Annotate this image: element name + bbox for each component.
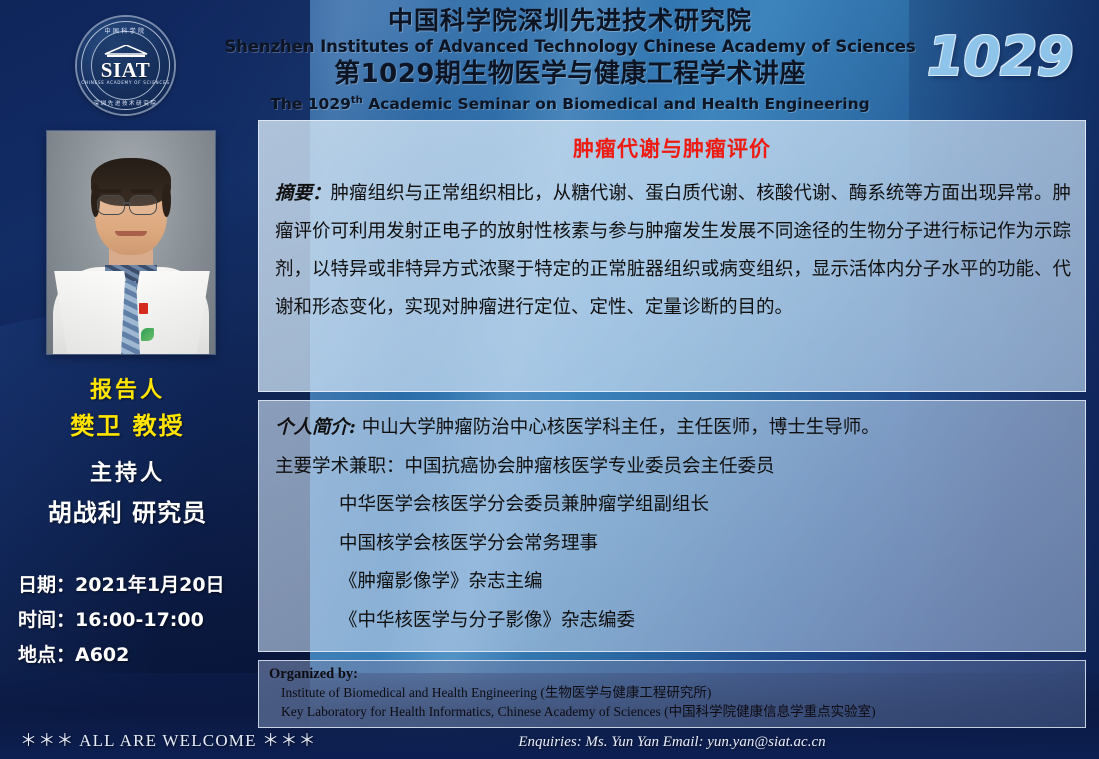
glasses-icon-right — [129, 195, 157, 215]
event-details: 日期：2021年1月20日 时间：16:00-17:00 地点：A602 — [18, 568, 248, 673]
portrait-mouth — [115, 231, 147, 236]
bio-affiliation-lead: 主要学术兼职：中国抗癌协会肿瘤核医学专业委员会主任委员 — [275, 448, 1071, 487]
seminar-en-ordinal: th — [351, 95, 363, 106]
event-date: 日期：2021年1月20日 — [18, 568, 248, 603]
host-name-label: 胡战利 研究员 — [0, 493, 255, 528]
glasses-bridge — [123, 202, 130, 204]
speaker-role-label: 报告人 — [0, 372, 255, 404]
organizer-title: Organized by: — [269, 666, 1085, 683]
abstract-lead-label: 摘要： — [275, 183, 331, 204]
portrait-brow-left — [99, 189, 121, 193]
organizer-panel: Organized by: Institute of Biomedical an… — [258, 660, 1086, 728]
logo-arc-top-label: 中国科学院 — [77, 26, 174, 35]
event-time: 时间：16:00-17:00 — [18, 603, 248, 638]
bio-summary-line: 个人简介: 中山大学肿瘤防治中心核医学科主任，主任医师，博士生导师。 — [275, 409, 1071, 448]
abstract-text: 摘要：肿瘤组织与正常组织相比，从糖代谢、蛋白质代谢、核酸代谢、酶系统等方面出现异… — [275, 175, 1071, 327]
biography-panel: 个人简介: 中山大学肿瘤防治中心核医学科主任，主任医师，博士生导师。 主要学术兼… — [258, 400, 1086, 652]
hospital-emblem-icon — [141, 327, 179, 343]
speaker-portrait — [47, 131, 215, 354]
logo-sub-label: CHINESE ACADEMY OF SCIENCES — [77, 80, 174, 85]
seminar-en-suffix: Academic Seminar on Biomedical and Healt… — [363, 95, 870, 113]
institute-name-en: Shenzhen Institutes of Advanced Technolo… — [190, 36, 950, 58]
seminar-title-en: The 1029th Academic Seminar on Biomedica… — [190, 91, 950, 114]
institute-name-cn: 中国科学院深圳先进技术研究院 — [190, 6, 950, 36]
glasses-icon-left — [97, 195, 125, 215]
organizer-line-2: Key Laboratory for Health Informatics, C… — [281, 702, 1085, 721]
siat-logo: 中国科学院 SIAT CHINESE ACADEMY OF SCIENCES 深… — [77, 17, 174, 114]
bio-affiliation-item: 《肿瘤影像学》杂志主编 — [275, 563, 1071, 602]
biography-text: 个人简介: 中山大学肿瘤防治中心核医学科主任，主任医师，博士生导师。 主要学术兼… — [275, 409, 1071, 640]
poster-header: 中国科学院深圳先进技术研究院 Shenzhen Institutes of Ad… — [190, 6, 950, 114]
abstract-panel: 肿瘤代谢与肿瘤评价 摘要：肿瘤组织与正常组织相比，从糖代谢、蛋白质代谢、核酸代谢… — [258, 120, 1086, 392]
bio-summary: 中山大学肿瘤防治中心核医学科主任，主任医师，博士生导师。 — [362, 417, 880, 438]
logo-arc-bottom-label: 深圳先进技术研究院 — [77, 99, 174, 107]
bio-lead-label: 个人简介: — [275, 417, 356, 438]
portrait-badge — [139, 303, 148, 314]
enquiries-line: Enquiries: Ms. Yun Yan Email: yun.yan@si… — [258, 734, 1086, 751]
organizer-line-1: Institute of Biomedical and Health Engin… — [281, 683, 1085, 702]
emblem-leaf-icon — [141, 328, 154, 341]
abstract-content: 肿瘤组织与正常组织相比，从糖代谢、蛋白质代谢、核酸代谢、酶系统等方面出现异常。肿… — [275, 183, 1071, 318]
seminar-title-cn: 第1029期生物医学与健康工程学术讲座 — [190, 58, 950, 91]
bio-affiliation-item: 《中华核医学与分子影像》杂志编委 — [275, 602, 1071, 641]
talk-title: 肿瘤代谢与肿瘤评价 — [259, 133, 1085, 163]
speaker-name-label: 樊卫 教授 — [0, 406, 255, 441]
portrait-hair-right — [162, 183, 171, 217]
seminar-poster: 中国科学院 SIAT CHINESE ACADEMY OF SCIENCES 深… — [0, 0, 1099, 759]
bio-affiliation-item: 中国核学会核医学分会常务理事 — [275, 525, 1071, 564]
portrait-brow-right — [131, 189, 153, 193]
bio-affiliation-item: 中华医学会核医学分会委员兼肿瘤学组副组长 — [275, 486, 1071, 525]
seminar-en-prefix: The 1029 — [270, 95, 351, 113]
event-venue: 地点：A602 — [18, 638, 248, 673]
issue-number-watermark: 1029 — [927, 25, 1073, 88]
host-role-label: 主持人 — [0, 455, 255, 487]
